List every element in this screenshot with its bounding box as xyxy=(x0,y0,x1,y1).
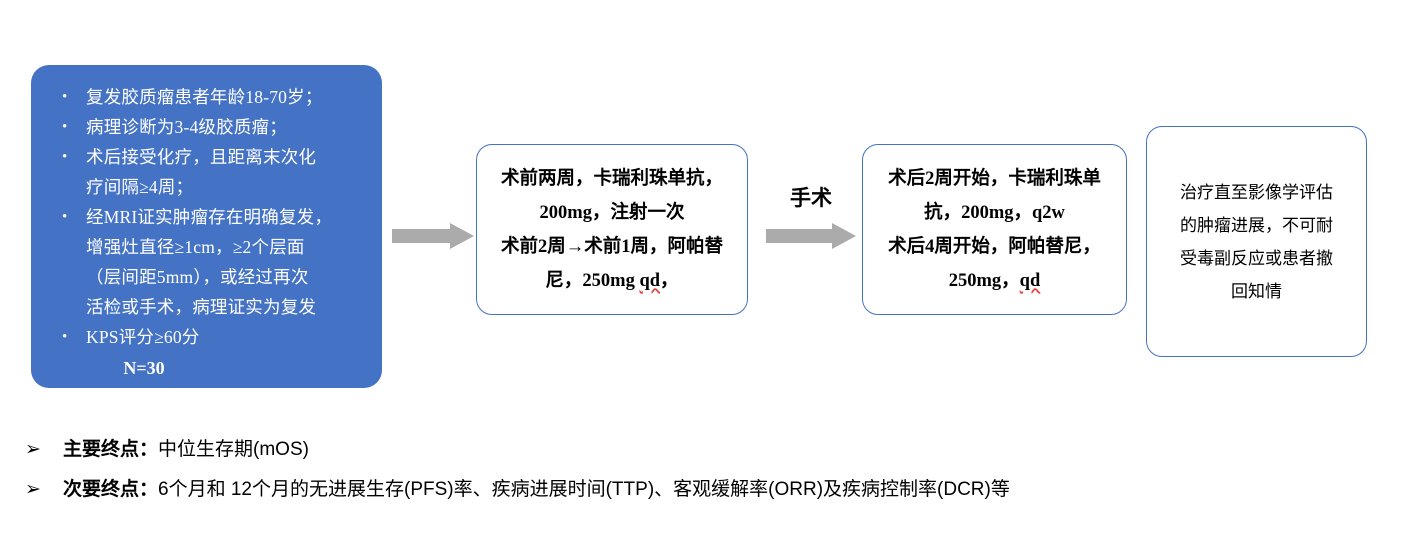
criterion-text: 术后接受化疗，且距离末次化 xyxy=(86,147,316,167)
criterion-text-cont: 增强灶直径≥1cm，≥2个层面 xyxy=(86,232,372,262)
arrow-shaft xyxy=(392,229,450,243)
list-item: 经MRI证实肿瘤存在明确复发， 增强灶直径≥1cm，≥2个层面 （层间距5mm）… xyxy=(41,202,372,322)
eligibility-criteria-list: 复发胶质瘤患者年龄18-70岁； 病理诊断为3-4级胶质瘤； 术后接受化疗，且距… xyxy=(41,82,372,352)
followup-line-4: 回知情 xyxy=(1231,275,1282,308)
postop-line-3: 术后4周开始，阿帕替尼， xyxy=(888,230,1101,264)
postop-line-2: 抗，200mg，q2w xyxy=(924,196,1065,230)
list-item: 病理诊断为3-4级胶质瘤； xyxy=(41,112,372,142)
preop-line-2: 200mg，注射一次 xyxy=(540,196,685,230)
followup-line-1: 治疗直至影像学评估 xyxy=(1180,176,1333,209)
criterion-text-cont3: 活检或手术，病理证实为复发 xyxy=(86,292,372,322)
arrow-right-icon xyxy=(392,223,474,249)
arrow-head xyxy=(832,223,856,249)
arrow-shaft xyxy=(766,229,832,243)
secondary-endpoint-row: ➢ 次要终点： 6个月和 12个月的无进展生存(PFS)率、疾病进展时间(TTP… xyxy=(25,474,1010,501)
primary-endpoint-label: 主要终点： xyxy=(63,434,158,461)
criterion-text: 病理诊断为3-4级胶质瘤； xyxy=(86,117,287,137)
list-item: 复发胶质瘤患者年龄18-70岁； xyxy=(41,82,372,112)
preop-line-1: 术前两周，卡瑞利珠单抗， xyxy=(501,162,723,196)
preop-line-4: 尼，250mg qd， xyxy=(545,264,678,298)
secondary-endpoint-label: 次要终点： xyxy=(63,474,158,501)
postop-line-4-text: 250mg， xyxy=(949,271,1020,291)
preop-line-4-tail: ， xyxy=(660,271,679,291)
followup-line-2: 的肿瘤进展，不可耐 xyxy=(1180,209,1333,242)
primary-endpoint-text: 中位生存期(mOS) xyxy=(158,434,309,461)
criterion-text: KPS评分≥60分 xyxy=(86,327,200,347)
secondary-endpoint-text: 6个月和 12个月的无进展生存(PFS)率、疾病进展时间(TTP)、客观缓解率(… xyxy=(158,474,1010,501)
primary-endpoint-row: ➢ 主要终点： 中位生存期(mOS) xyxy=(25,434,309,461)
postoperative-treatment-box: 术后2周开始，卡瑞利珠单 抗，200mg，q2w 术后4周开始，阿帕替尼， 25… xyxy=(862,144,1127,315)
list-item: KPS评分≥60分 xyxy=(41,322,372,352)
treatment-until-progression-box: 治疗直至影像学评估 的肿瘤进展，不可耐 受毒副反应或患者撤 回知情 xyxy=(1146,126,1367,357)
surgery-step-label: 手术 xyxy=(766,182,856,212)
criterion-text-cont: 疗间隔≥4周； xyxy=(86,172,372,202)
arrow-head xyxy=(450,223,474,249)
preoperative-treatment-box: 术前两周，卡瑞利珠单抗， 200mg，注射一次 术前2周→术前1周，阿帕替 尼，… xyxy=(476,144,748,315)
criterion-text: 复发胶质瘤患者年龄18-70岁； xyxy=(86,87,323,107)
preop-qd-misspelled: qd xyxy=(639,271,660,291)
preop-line-4-text: 尼，250mg xyxy=(545,271,639,291)
postop-qd-misspelled: qd xyxy=(1020,271,1041,291)
sample-size-label: N=30 xyxy=(41,353,372,383)
followup-line-3: 受毒副反应或患者撤 xyxy=(1180,242,1333,275)
criterion-text: 经MRI证实肿瘤存在明确复发， xyxy=(86,207,332,227)
postop-line-1: 术后2周开始，卡瑞利珠单 xyxy=(888,162,1101,196)
list-item: 术后接受化疗，且距离末次化 疗间隔≥4周； xyxy=(41,142,372,202)
arrow-bullet-icon: ➢ xyxy=(25,478,63,501)
preop-line-3: 术前2周→术前1周，阿帕替 xyxy=(501,230,723,264)
criterion-text-cont2: （层间距5mm），或经过再次 xyxy=(86,262,372,292)
arrow-right-icon xyxy=(766,223,856,249)
postop-line-4: 250mg，qd xyxy=(949,264,1041,298)
eligibility-criteria-box: 复发胶质瘤患者年龄18-70岁； 病理诊断为3-4级胶质瘤； 术后接受化疗，且距… xyxy=(31,65,382,388)
arrow-bullet-icon: ➢ xyxy=(25,438,63,461)
